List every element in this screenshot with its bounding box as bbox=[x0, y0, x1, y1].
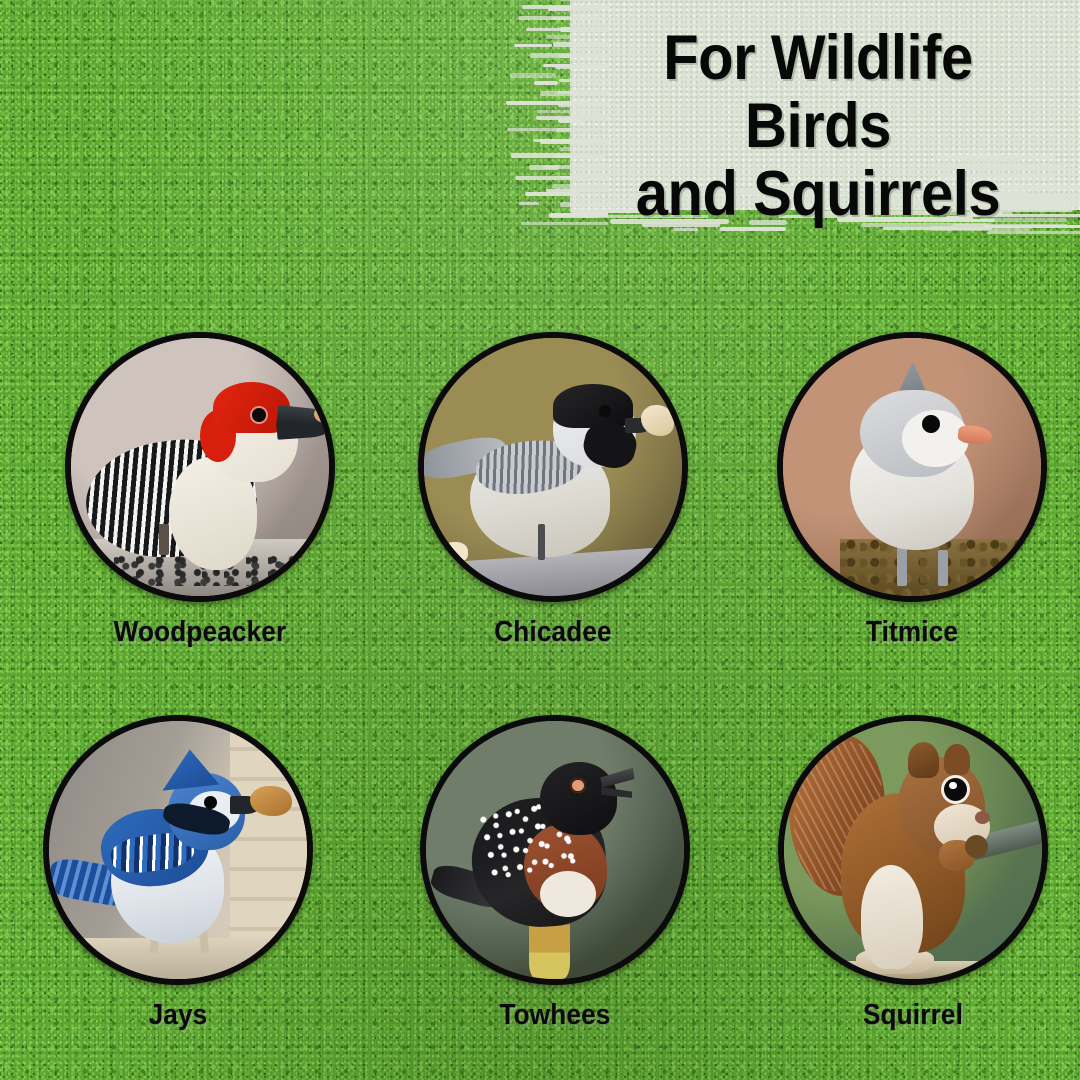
species-label-squirrel: Squirrel bbox=[778, 999, 1048, 1032]
photo-chickadee bbox=[424, 338, 682, 596]
species-label-jay: Jays bbox=[43, 999, 313, 1032]
photo-frame-towhee bbox=[420, 715, 690, 985]
species-card-squirrel[interactable]: Squirrel bbox=[763, 715, 1063, 1032]
species-card-chickadee[interactable]: Chicadee bbox=[403, 332, 703, 649]
page-title: For Wildlife Birds and Squirrels bbox=[590, 24, 1046, 228]
photo-squirrel bbox=[784, 721, 1042, 979]
species-gallery: Woodpeacker Chicadee bbox=[0, 332, 1080, 1030]
photo-frame-jay bbox=[43, 715, 313, 985]
photo-woodpecker bbox=[71, 338, 329, 596]
photo-frame-squirrel bbox=[778, 715, 1048, 985]
photo-frame-woodpecker bbox=[65, 332, 335, 602]
photo-frame-chickadee bbox=[418, 332, 688, 602]
photo-blue-jay bbox=[49, 721, 307, 979]
photo-frame-titmouse bbox=[777, 332, 1047, 602]
species-label-towhee: Towhees bbox=[420, 999, 690, 1032]
species-label-titmouse: Titmice bbox=[777, 616, 1047, 649]
photo-towhee bbox=[426, 721, 684, 979]
species-card-towhee[interactable]: Towhees bbox=[405, 715, 705, 1032]
title-banner: For Wildlife Birds and Squirrels bbox=[498, 0, 1080, 226]
gallery-row-2: Jays Towhees bbox=[0, 715, 1080, 1030]
photo-titmouse bbox=[783, 338, 1041, 596]
species-card-jay[interactable]: Jays bbox=[28, 715, 328, 1032]
product-infographic: For Wildlife Birds and Squirrels Woodpea… bbox=[0, 0, 1080, 1080]
species-card-woodpecker[interactable]: Woodpeacker bbox=[50, 332, 350, 649]
species-label-woodpecker: Woodpeacker bbox=[65, 616, 335, 649]
species-card-titmouse[interactable]: Titmice bbox=[762, 332, 1062, 649]
species-label-chickadee: Chicadee bbox=[418, 616, 688, 649]
gallery-row-1: Woodpeacker Chicadee bbox=[0, 332, 1080, 647]
